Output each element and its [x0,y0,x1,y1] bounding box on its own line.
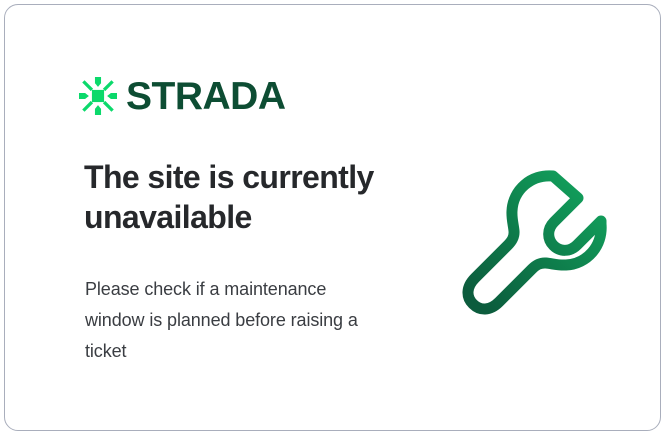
wrench-icon [457,155,625,317]
strada-asterisk-mark-icon [79,77,117,115]
brand-wordmark: STRADA [126,77,286,116]
brand-logo: STRADA [79,71,286,121]
status-card: STRADA The site is currently unavailable… [4,4,661,431]
page-description: Please check if a maintenance window is … [85,274,385,367]
error-page: STRADA The site is currently unavailable… [0,0,666,436]
page-title: The site is currently unavailable [84,157,424,238]
